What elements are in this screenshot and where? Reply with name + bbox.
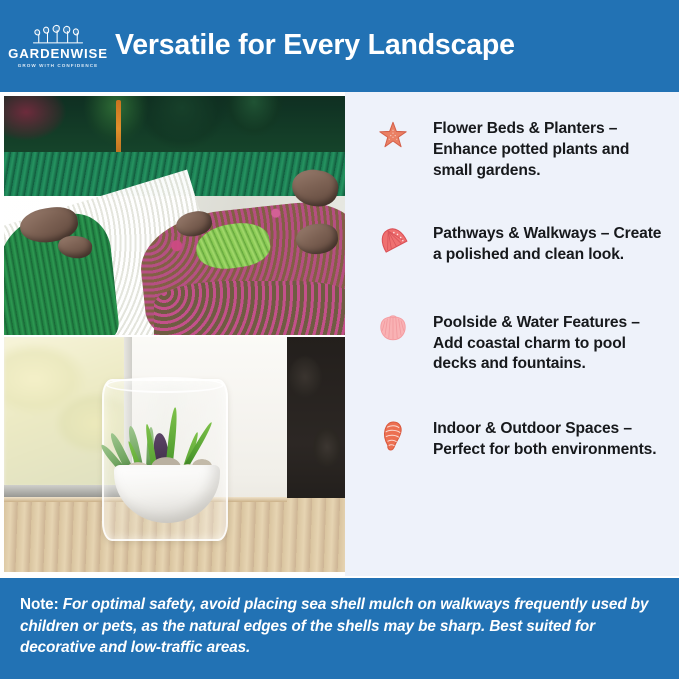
clam-shell-icon xyxy=(371,223,415,269)
page-title: Versatile for Every Landscape xyxy=(115,30,515,61)
list-item-label: Pathways & Walkways – Create a polished … xyxy=(415,223,663,266)
brand-tagline: GROW WITH CONFIDENCE xyxy=(18,64,98,69)
scallop-shell-icon xyxy=(371,312,415,358)
infographic-page: GARDENWISE GROW WITH CONFIDENCE Versatil… xyxy=(0,0,679,679)
footer-note-bar: Note: For optimal safety, avoid placing … xyxy=(0,578,679,679)
footer-note-label: Note: xyxy=(20,596,59,613)
list-item-label: Poolside & Water Features – Add coastal … xyxy=(415,312,663,376)
tropical-garden-photo xyxy=(4,96,345,335)
header-bar: GARDENWISE GROW WITH CONFIDENCE Versatil… xyxy=(0,0,679,92)
garden-foreground-flowers xyxy=(154,281,345,335)
list-item: Pathways & Walkways – Create a polished … xyxy=(371,223,663,269)
indoor-terrarium-photo xyxy=(4,337,345,572)
list-item: Flower Beds & Planters – Enhance potted … xyxy=(371,118,663,182)
indoor-dark-panel xyxy=(287,337,345,515)
footer-note-body: For optimal safety, avoid placing sea sh… xyxy=(20,596,648,656)
footer-note: Note: For optimal safety, avoid placing … xyxy=(20,594,657,659)
photo-column xyxy=(0,92,345,576)
list-item-label: Indoor & Outdoor Spaces – Perfect for bo… xyxy=(415,418,663,461)
sprouting-leaves-icon xyxy=(30,24,86,46)
list-item: Indoor & Outdoor Spaces – Perfect for bo… xyxy=(371,418,663,464)
list-item: Poolside & Water Features – Add coastal … xyxy=(371,312,663,376)
content-area: Flower Beds & Planters – Enhance potted … xyxy=(0,92,679,576)
benefits-list: Flower Beds & Planters – Enhance potted … xyxy=(345,92,679,576)
list-item-label: Flower Beds & Planters – Enhance potted … xyxy=(415,118,663,182)
brand-logo: GARDENWISE GROW WITH CONFIDENCE xyxy=(0,24,108,68)
brand-name: GARDENWISE xyxy=(8,47,108,60)
starfish-icon xyxy=(371,118,415,164)
conch-shell-icon xyxy=(371,418,415,464)
